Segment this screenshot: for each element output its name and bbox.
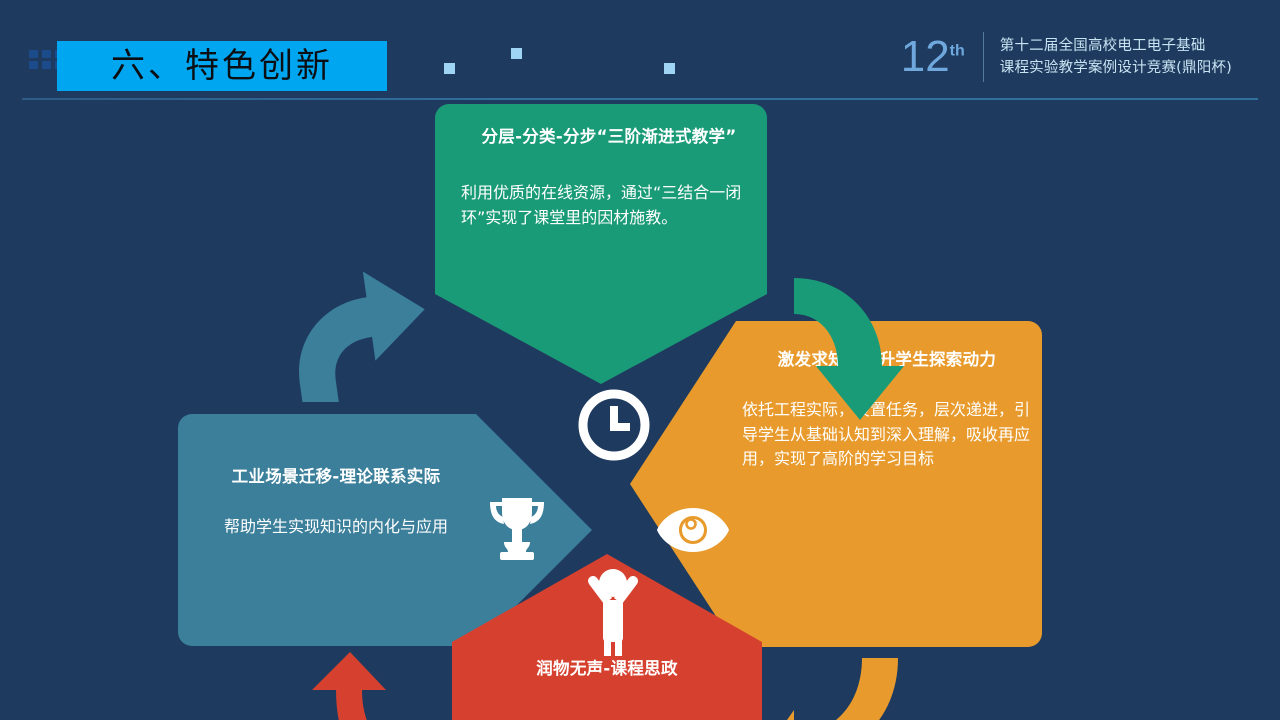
decorative-square-3 xyxy=(664,63,675,74)
brand-edition-value: 12 xyxy=(901,32,950,81)
slide-header: 六、特色创新 12th 第十二届全国高校电工电子基础 课程实验教学案例设计竞赛(… xyxy=(0,0,1280,104)
panel-top-content: 分层-分类-分步“三阶渐进式教学” 利用优质的在线资源，通过“三结合一闭环”实现… xyxy=(461,126,757,230)
panel-left-title: 工业场景迁移-理论联系实际 xyxy=(186,466,486,487)
panel-left-body: 帮助学生实现知识的内化与应用 xyxy=(186,515,486,539)
brand-separator xyxy=(983,32,984,82)
brand-line-2: 课程实验教学案例设计竞赛(鼎阳杯) xyxy=(1000,60,1232,77)
arrow-up-right-icon xyxy=(292,272,432,402)
arrow-up-left-icon xyxy=(310,652,440,720)
panel-bottom-content: 润物无声-课程思政 将专业知识与课程思政有机融合，促进学生价值观的塑造。 xyxy=(470,658,744,720)
panel-bottom-title: 润物无声-课程思政 xyxy=(470,658,744,679)
page-title: 六、特色创新 xyxy=(111,49,333,83)
eye-icon xyxy=(655,502,731,558)
page-title-chip: 六、特色创新 xyxy=(57,41,387,91)
panel-top-title: 分层-分类-分步“三阶渐进式教学” xyxy=(461,126,757,147)
person-icon xyxy=(582,568,644,656)
brand-line-1: 第十二届全国高校电工电子基础 xyxy=(1000,38,1232,55)
brand-edition-ordinal: th xyxy=(950,42,965,59)
arrow-left-down-icon xyxy=(766,658,898,720)
trophy-icon xyxy=(482,496,552,560)
competition-brand: 12th 第十二届全国高校电工电子基础 课程实验教学案例设计竞赛(鼎阳杯) xyxy=(901,28,1232,86)
feature-innovation-diagram: 工业场景迁移-理论联系实际 帮助学生实现知识的内化与应用 激发求知欲提升学生探索… xyxy=(0,104,1280,720)
panel-left-content: 工业场景迁移-理论联系实际 帮助学生实现知识的内化与应用 xyxy=(186,466,486,540)
brand-edition-number: 12th xyxy=(901,35,969,79)
decorative-square-2 xyxy=(511,48,522,59)
arrow-down-icon xyxy=(790,276,922,420)
clock-icon xyxy=(578,389,650,461)
brand-text-block: 第十二届全国高校电工电子基础 课程实验教学案例设计竞赛(鼎阳杯) xyxy=(1000,38,1232,76)
header-divider xyxy=(22,98,1258,100)
decorative-square-1 xyxy=(444,63,455,74)
panel-top-body: 利用优质的在线资源，通过“三结合一闭环”实现了课堂里的因材施教。 xyxy=(461,181,757,230)
panel-top-three-stage-teaching[interactable]: 分层-分类-分步“三阶渐进式教学” 利用优质的在线资源，通过“三结合一闭环”实现… xyxy=(435,104,767,384)
slide-canvas: 六、特色创新 12th 第十二届全国高校电工电子基础 课程实验教学案例设计竞赛(… xyxy=(0,0,1280,720)
